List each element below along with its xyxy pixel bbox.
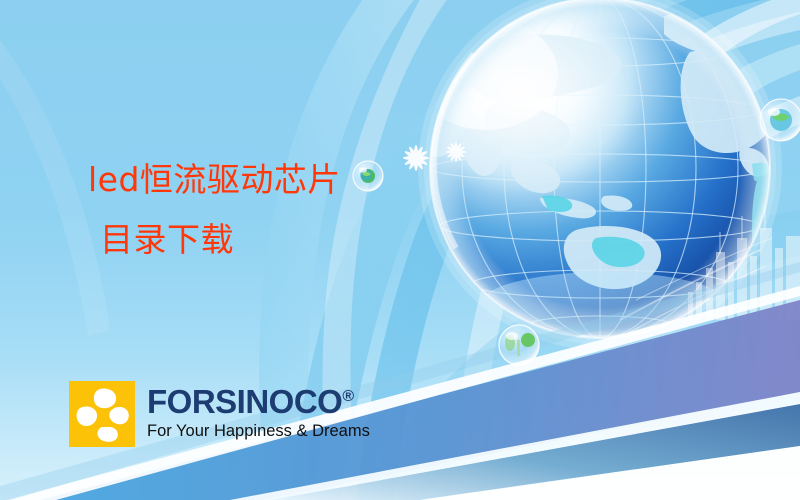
logo-wordmark-text: FORSINOCO <box>147 383 342 420</box>
headline-text: led恒流驱动芯片 目录下载 <box>88 163 341 256</box>
forsinoco-pinwheel-icon <box>69 381 135 447</box>
logo-tagline: For Your Happiness & Dreams <box>147 423 370 440</box>
bubble-tree <box>499 325 539 365</box>
logo-wordmark: FORSINOCO® <box>147 385 370 418</box>
logo-text-block: FORSINOCO® For Your Happiness & Dreams <box>147 381 370 440</box>
promo-banner: led恒流驱动芯片 目录下载 FORSINOCO® For Your Happi… <box>0 0 800 500</box>
headline-line-1: led恒流驱动芯片 <box>88 163 341 196</box>
bubble-globe-small <box>353 161 383 191</box>
company-logo: FORSINOCO® For Your Happiness & Dreams <box>69 381 370 447</box>
bubble-globe-corner <box>760 99 800 141</box>
headline-line-2: 目录下载 <box>100 223 341 256</box>
registered-trademark-icon: ® <box>342 388 353 405</box>
